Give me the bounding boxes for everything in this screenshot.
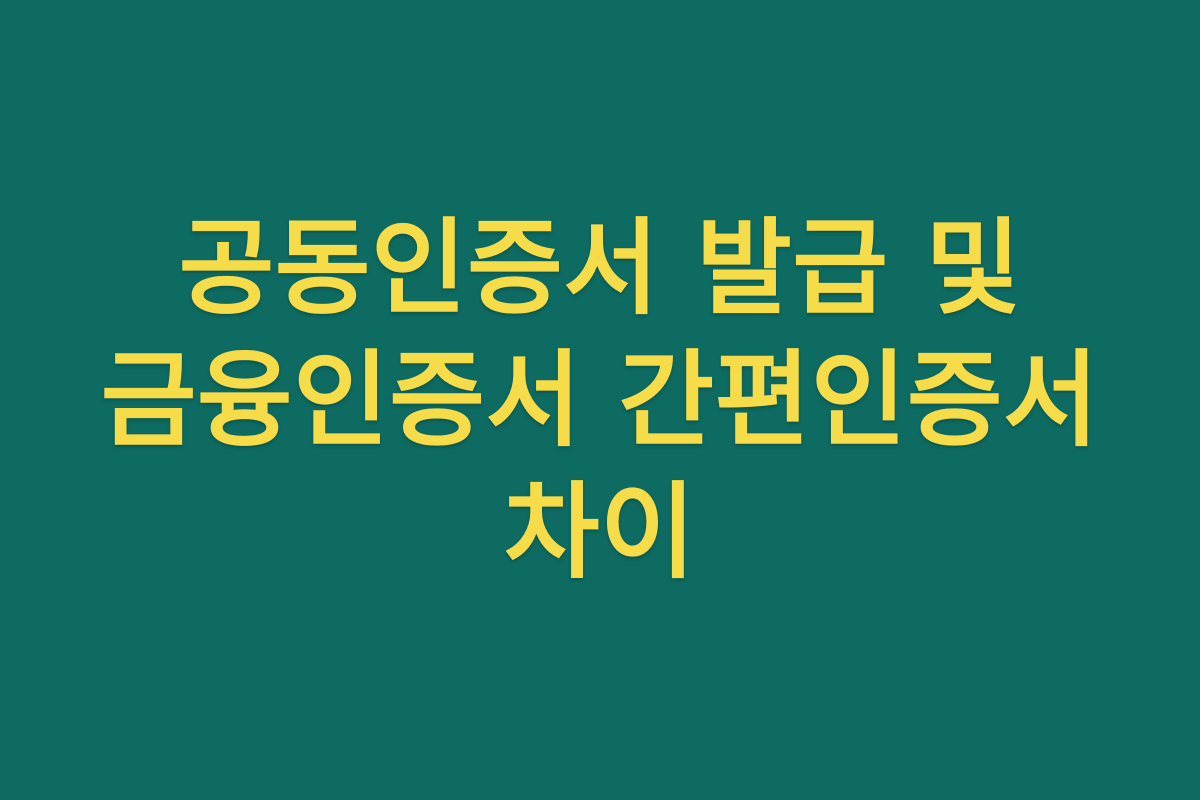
thumbnail-title: 공동인증서 발급 및 금융인증서 간편인증서 차이 xyxy=(95,202,1105,598)
thumbnail-canvas: 공동인증서 발급 및 금융인증서 간편인증서 차이 xyxy=(0,0,1200,800)
title-block: 공동인증서 발급 및 금융인증서 간편인증서 차이 xyxy=(95,202,1105,598)
